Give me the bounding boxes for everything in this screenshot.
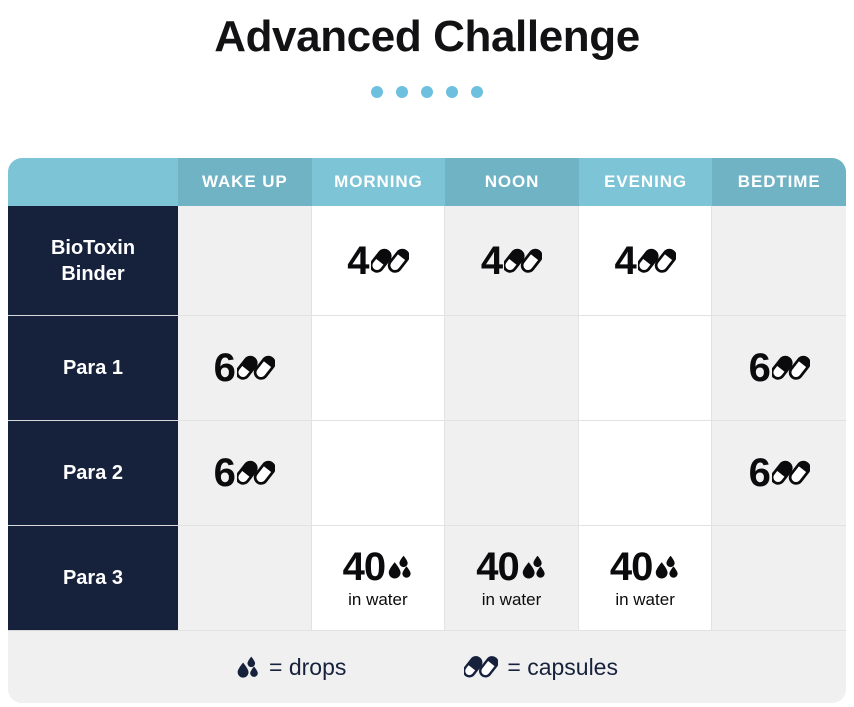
capsule-icon	[504, 242, 542, 280]
dose-amount: 6	[214, 347, 275, 389]
dose-amount: 4	[481, 240, 542, 282]
capsule-icon-svg	[237, 349, 275, 387]
capsule-icon-svg	[237, 454, 275, 492]
dose-amount: 4	[614, 240, 675, 282]
row-label-text: BioToxinBinder	[51, 235, 135, 287]
cell-para-3-evening: 40in water	[579, 526, 713, 631]
water-drops-icon-svg	[387, 554, 413, 580]
capsule-icon	[464, 650, 498, 684]
decorative-dot	[371, 86, 383, 98]
dose-amount: 6	[214, 452, 275, 494]
table-corner-cell	[8, 158, 178, 206]
dose-amount: 40	[476, 546, 547, 588]
dose-number: 40	[476, 546, 519, 588]
dose-number: 4	[347, 240, 368, 282]
capsule-icon	[237, 454, 275, 492]
column-header-noon: NOON	[445, 158, 579, 206]
table-legend: = drops= capsules	[8, 631, 846, 703]
row-label-biotoxin-binder: BioToxinBinder	[8, 206, 178, 316]
decorative-dot	[471, 86, 483, 98]
dose-number: 40	[610, 546, 653, 588]
capsule-icon	[772, 454, 810, 492]
water-drops-icon	[236, 655, 260, 679]
capsule-icon	[371, 242, 409, 280]
cell-biotoxin-binder-noon: 4	[445, 206, 579, 316]
table-grid: WAKE UPMORNINGNOONEVENINGBEDTIMEBioToxin…	[8, 158, 846, 631]
cell-para-1-bedtime: 6	[712, 316, 846, 421]
dose-number: 4	[481, 240, 502, 282]
cell-biotoxin-binder-wake-up	[178, 206, 312, 316]
capsule-icon-svg	[638, 242, 676, 280]
capsule-icon	[772, 349, 810, 387]
cell-para-1-evening	[579, 316, 713, 421]
decorative-dot-row	[0, 86, 854, 98]
dose-amount: 40	[610, 546, 681, 588]
page-title: Advanced Challenge	[0, 8, 854, 66]
cell-para-2-wake-up: 6	[178, 421, 312, 526]
dose-number: 6	[749, 452, 770, 494]
dose-number: 6	[749, 347, 770, 389]
dose-number: 40	[343, 546, 386, 588]
water-drops-icon-svg	[521, 554, 547, 580]
cell-biotoxin-binder-bedtime	[712, 206, 846, 316]
column-header-bedtime: BEDTIME	[712, 158, 846, 206]
decorative-dot	[396, 86, 408, 98]
cell-biotoxin-binder-evening: 4	[579, 206, 713, 316]
legend-label: = capsules	[507, 654, 618, 681]
cell-para-2-morning	[312, 421, 446, 526]
capsule-icon-svg	[464, 650, 498, 684]
capsule-icon-svg	[371, 242, 409, 280]
water-drops-icon-svg	[236, 655, 260, 679]
row-label-para-3: Para 3	[8, 526, 178, 631]
water-drops-icon	[521, 554, 547, 580]
cell-para-2-bedtime: 6	[712, 421, 846, 526]
legend-item-drops: = drops	[236, 654, 346, 681]
dose-amount: 6	[749, 452, 810, 494]
column-header-evening: EVENING	[579, 158, 713, 206]
page-header: Advanced Challenge	[0, 0, 854, 98]
legend-label: = drops	[269, 654, 346, 681]
dose-amount: 40	[343, 546, 414, 588]
cell-para-2-evening	[579, 421, 713, 526]
water-drops-icon	[387, 554, 413, 580]
dose-number: 6	[214, 452, 235, 494]
water-drops-icon-svg	[654, 554, 680, 580]
cell-para-3-bedtime	[712, 526, 846, 631]
dosage-schedule-table: WAKE UPMORNINGNOONEVENINGBEDTIMEBioToxin…	[8, 158, 846, 703]
capsule-icon-svg	[772, 349, 810, 387]
cell-para-3-noon: 40in water	[445, 526, 579, 631]
capsule-icon-svg	[504, 242, 542, 280]
capsule-icon-svg	[772, 454, 810, 492]
column-header-wake-up: WAKE UP	[178, 158, 312, 206]
cell-para-2-noon	[445, 421, 579, 526]
row-label-line: Binder	[61, 263, 124, 285]
dose-number: 4	[614, 240, 635, 282]
cell-para-1-wake-up: 6	[178, 316, 312, 421]
cell-para-3-morning: 40in water	[312, 526, 446, 631]
decorative-dot	[446, 86, 458, 98]
row-label-para-1: Para 1	[8, 316, 178, 421]
dose-note: in water	[348, 590, 408, 610]
water-drops-icon	[654, 554, 680, 580]
cell-biotoxin-binder-morning: 4	[312, 206, 446, 316]
row-label-line: BioToxin	[51, 237, 135, 259]
cell-para-1-morning	[312, 316, 446, 421]
capsule-icon	[237, 349, 275, 387]
capsule-icon	[638, 242, 676, 280]
column-header-morning: MORNING	[312, 158, 446, 206]
legend-item-capsule: = capsules	[464, 650, 618, 684]
dose-number: 6	[214, 347, 235, 389]
row-label-para-2: Para 2	[8, 421, 178, 526]
dose-amount: 4	[347, 240, 408, 282]
cell-para-3-wake-up	[178, 526, 312, 631]
decorative-dot	[421, 86, 433, 98]
dose-note: in water	[615, 590, 675, 610]
cell-para-1-noon	[445, 316, 579, 421]
dose-note: in water	[482, 590, 542, 610]
dose-amount: 6	[749, 347, 810, 389]
